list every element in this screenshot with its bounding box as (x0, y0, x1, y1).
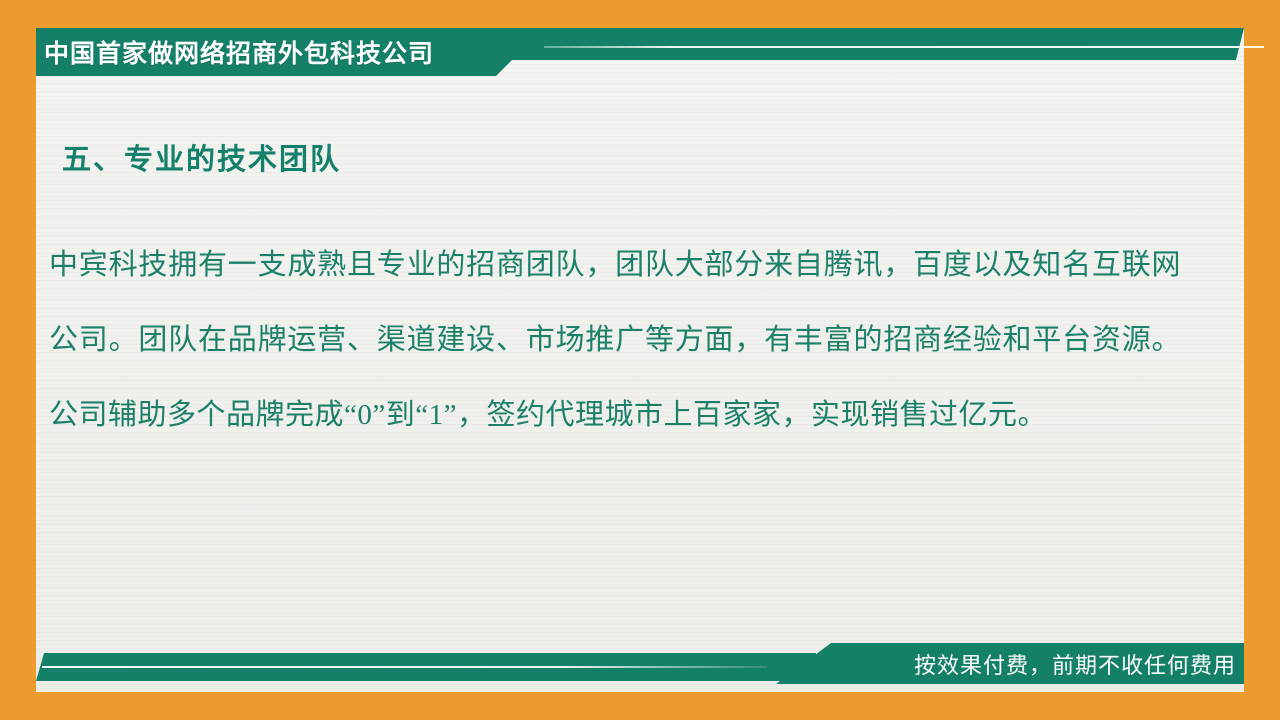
slide-canvas: 中国首家做网络招商外包科技公司 五、专业的技术团队 中宾科技拥有一支成熟且专业的… (0, 0, 1280, 720)
section-heading: 五、专业的技术团队 (62, 136, 341, 178)
slide-header: 中国首家做网络招商外包科技公司 (36, 28, 1244, 76)
header-title: 中国首家做网络招商外包科技公司 (44, 28, 434, 76)
slide-footer: 按效果付费，前期不收任何费用 (36, 628, 1244, 692)
body-copy: 中宾科技拥有一支成熟且专业的招商团队，团队大部分来自腾讯，百度以及知名互联网公司… (49, 228, 1181, 453)
footer-tagline: 按效果付费，前期不收任何费用 (914, 643, 1236, 684)
header-hairline-divider (544, 46, 1264, 48)
footer-hairline-divider (42, 666, 767, 668)
body-paragraph: 中宾科技拥有一支成熟且专业的招商团队，团队大部分来自腾讯，百度以及知名互联网公司… (49, 228, 1181, 453)
header-green-bar (476, 28, 1244, 60)
